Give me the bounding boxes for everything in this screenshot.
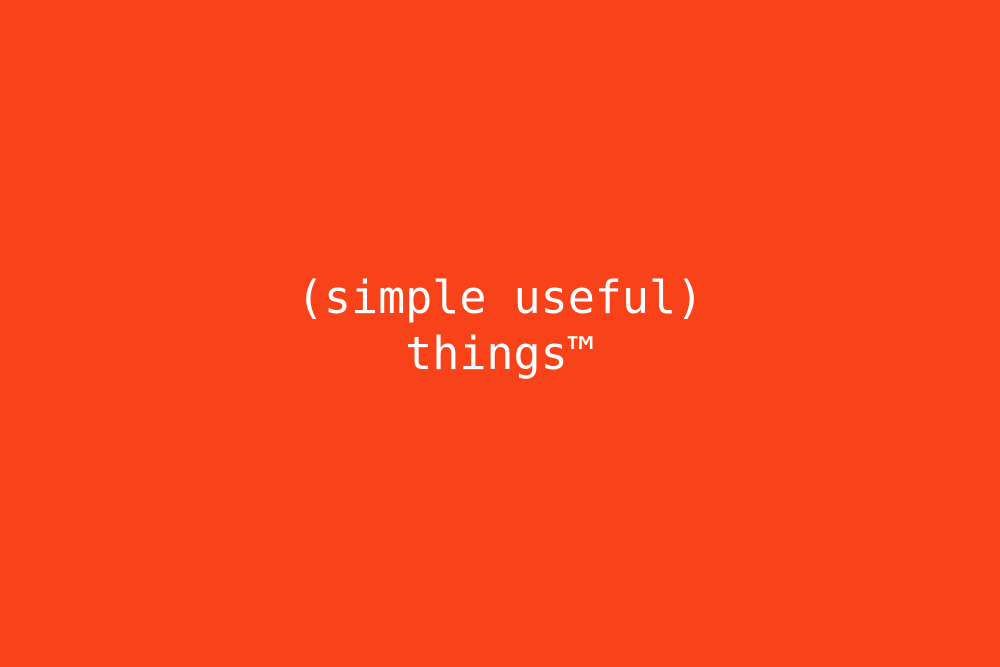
wordmark-line-primary: (simple useful) bbox=[297, 270, 703, 326]
wordmark-line-secondary: things™ bbox=[297, 326, 703, 382]
wordmark-line-secondary-text: things bbox=[405, 327, 568, 380]
brand-wordmark: (simple useful) things™ bbox=[297, 270, 703, 382]
brand-canvas: (simple useful) things™ bbox=[0, 0, 1000, 667]
trademark-icon: ™ bbox=[568, 327, 595, 380]
